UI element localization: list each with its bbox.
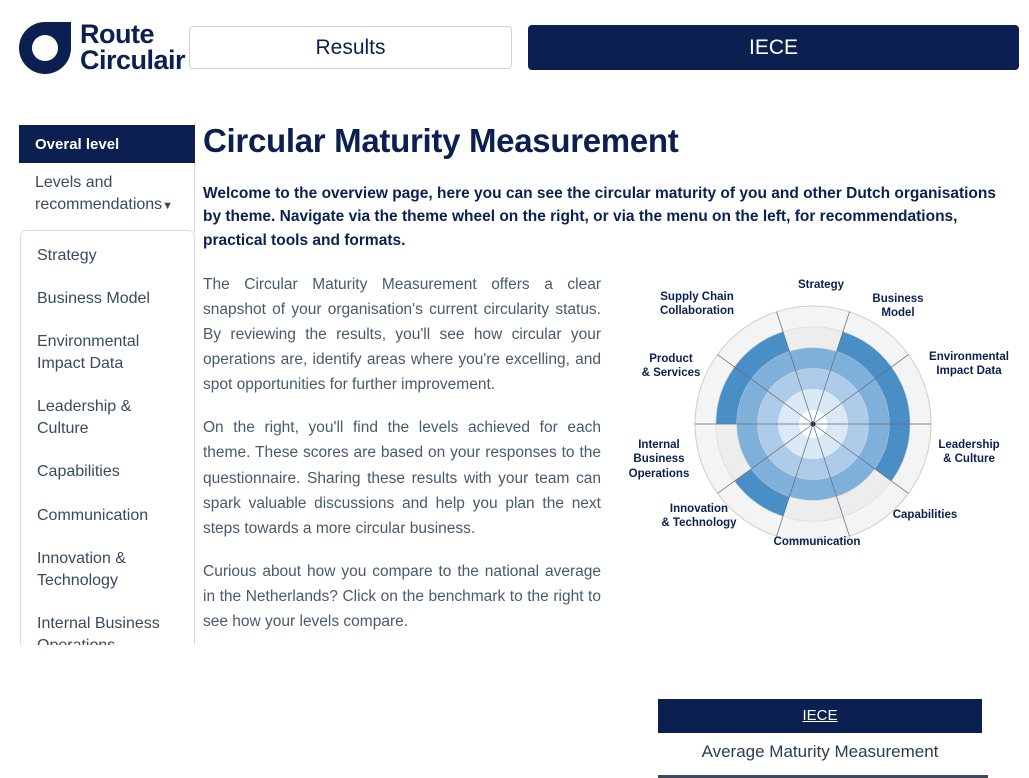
sidebar-dropdown-label: Levels and recommendations	[35, 174, 162, 213]
main-content: Circular Maturity Measurement Welcome to…	[203, 122, 1013, 652]
sidebar-item-business-model[interactable]: Business Model	[21, 288, 194, 310]
wheel-label-strategy: Strategy	[781, 278, 861, 292]
body-paragraph-2: On the right, you'll find the levels ach…	[203, 415, 601, 541]
sidebar: Overal level Levels and recommendations▼…	[19, 125, 195, 222]
sidebar-item-overal-level[interactable]: Overal level	[19, 125, 195, 163]
sidebar-item-internal-business-operations[interactable]: Internal Business Operations	[21, 613, 194, 645]
benchmark-rule	[658, 775, 988, 778]
benchmark-caption: Average Maturity Measurement	[658, 742, 982, 762]
sidebar-item-capabilities[interactable]: Capabilities	[21, 461, 194, 483]
wheel-label-business-model: BusinessModel	[865, 292, 931, 321]
brand-name: Route Circulair	[80, 22, 185, 73]
brand-logo[interactable]: Route Circulair	[19, 22, 185, 74]
page-title: Circular Maturity Measurement	[203, 122, 1013, 160]
sidebar-dropdown-panel: Strategy Business Model Environmental Im…	[20, 230, 195, 645]
maturity-wheel[interactable]: Strategy BusinessModel EnvironmentalImpa…	[613, 272, 1013, 552]
wheel-label-capabilities: Capabilities	[885, 508, 965, 522]
sidebar-item-leadership-culture[interactable]: Leadership & Culture	[21, 396, 194, 440]
wheel-center-hub	[811, 421, 816, 426]
text-column: The Circular Maturity Measurement offers…	[203, 272, 601, 652]
sidebar-item-strategy[interactable]: Strategy	[21, 245, 194, 267]
route-circulair-logo-icon	[19, 22, 71, 74]
brand-line-2: Circulair	[80, 48, 185, 74]
chart-column: Strategy BusinessModel EnvironmentalImpa…	[613, 272, 1013, 652]
wheel-label-supply-chain-collaboration: Supply ChainCollaboration	[647, 290, 747, 319]
wheel-segment[interactable]	[783, 496, 843, 521]
wheel-label-communication: Communication	[765, 535, 869, 549]
top-bar: Route Circulair Results IECE	[0, 0, 1029, 96]
body-paragraph-3: Curious about how you compare to the nat…	[203, 559, 601, 634]
wheel-label-leadership-culture: Leadership& Culture	[929, 438, 1009, 467]
benchmark-iece-label: IECE	[802, 707, 837, 724]
wheel-segment[interactable]	[789, 347, 836, 371]
wheel-segment[interactable]	[789, 477, 836, 501]
wheel-segment[interactable]	[783, 327, 843, 352]
chevron-down-icon: ▼	[162, 200, 173, 212]
sidebar-dropdown-levels-and-recommendations[interactable]: Levels and recommendations▼	[19, 163, 195, 222]
wheel-label-innovation-technology: Innovation& Technology	[645, 502, 753, 531]
benchmark-iece-button[interactable]: IECE	[658, 699, 982, 733]
tab-iece[interactable]: IECE	[528, 25, 1019, 70]
wheel-label-environmental-impact-data: EnvironmentalImpact Data	[923, 350, 1015, 379]
tab-results[interactable]: Results	[189, 26, 512, 69]
sidebar-item-communication[interactable]: Communication	[21, 505, 194, 527]
wheel-label-product-services: Product& Services	[635, 352, 707, 381]
sidebar-item-environmental-impact-data[interactable]: Environmental Impact Data	[21, 331, 194, 375]
sidebar-item-innovation-technology[interactable]: Innovation & Technology	[21, 548, 194, 592]
body-paragraph-1: The Circular Maturity Measurement offers…	[203, 272, 601, 398]
intro-paragraph: Welcome to the overview page, here you c…	[203, 182, 1008, 252]
wheel-label-internal-business-operations: InternalBusinessOperations	[613, 438, 705, 481]
